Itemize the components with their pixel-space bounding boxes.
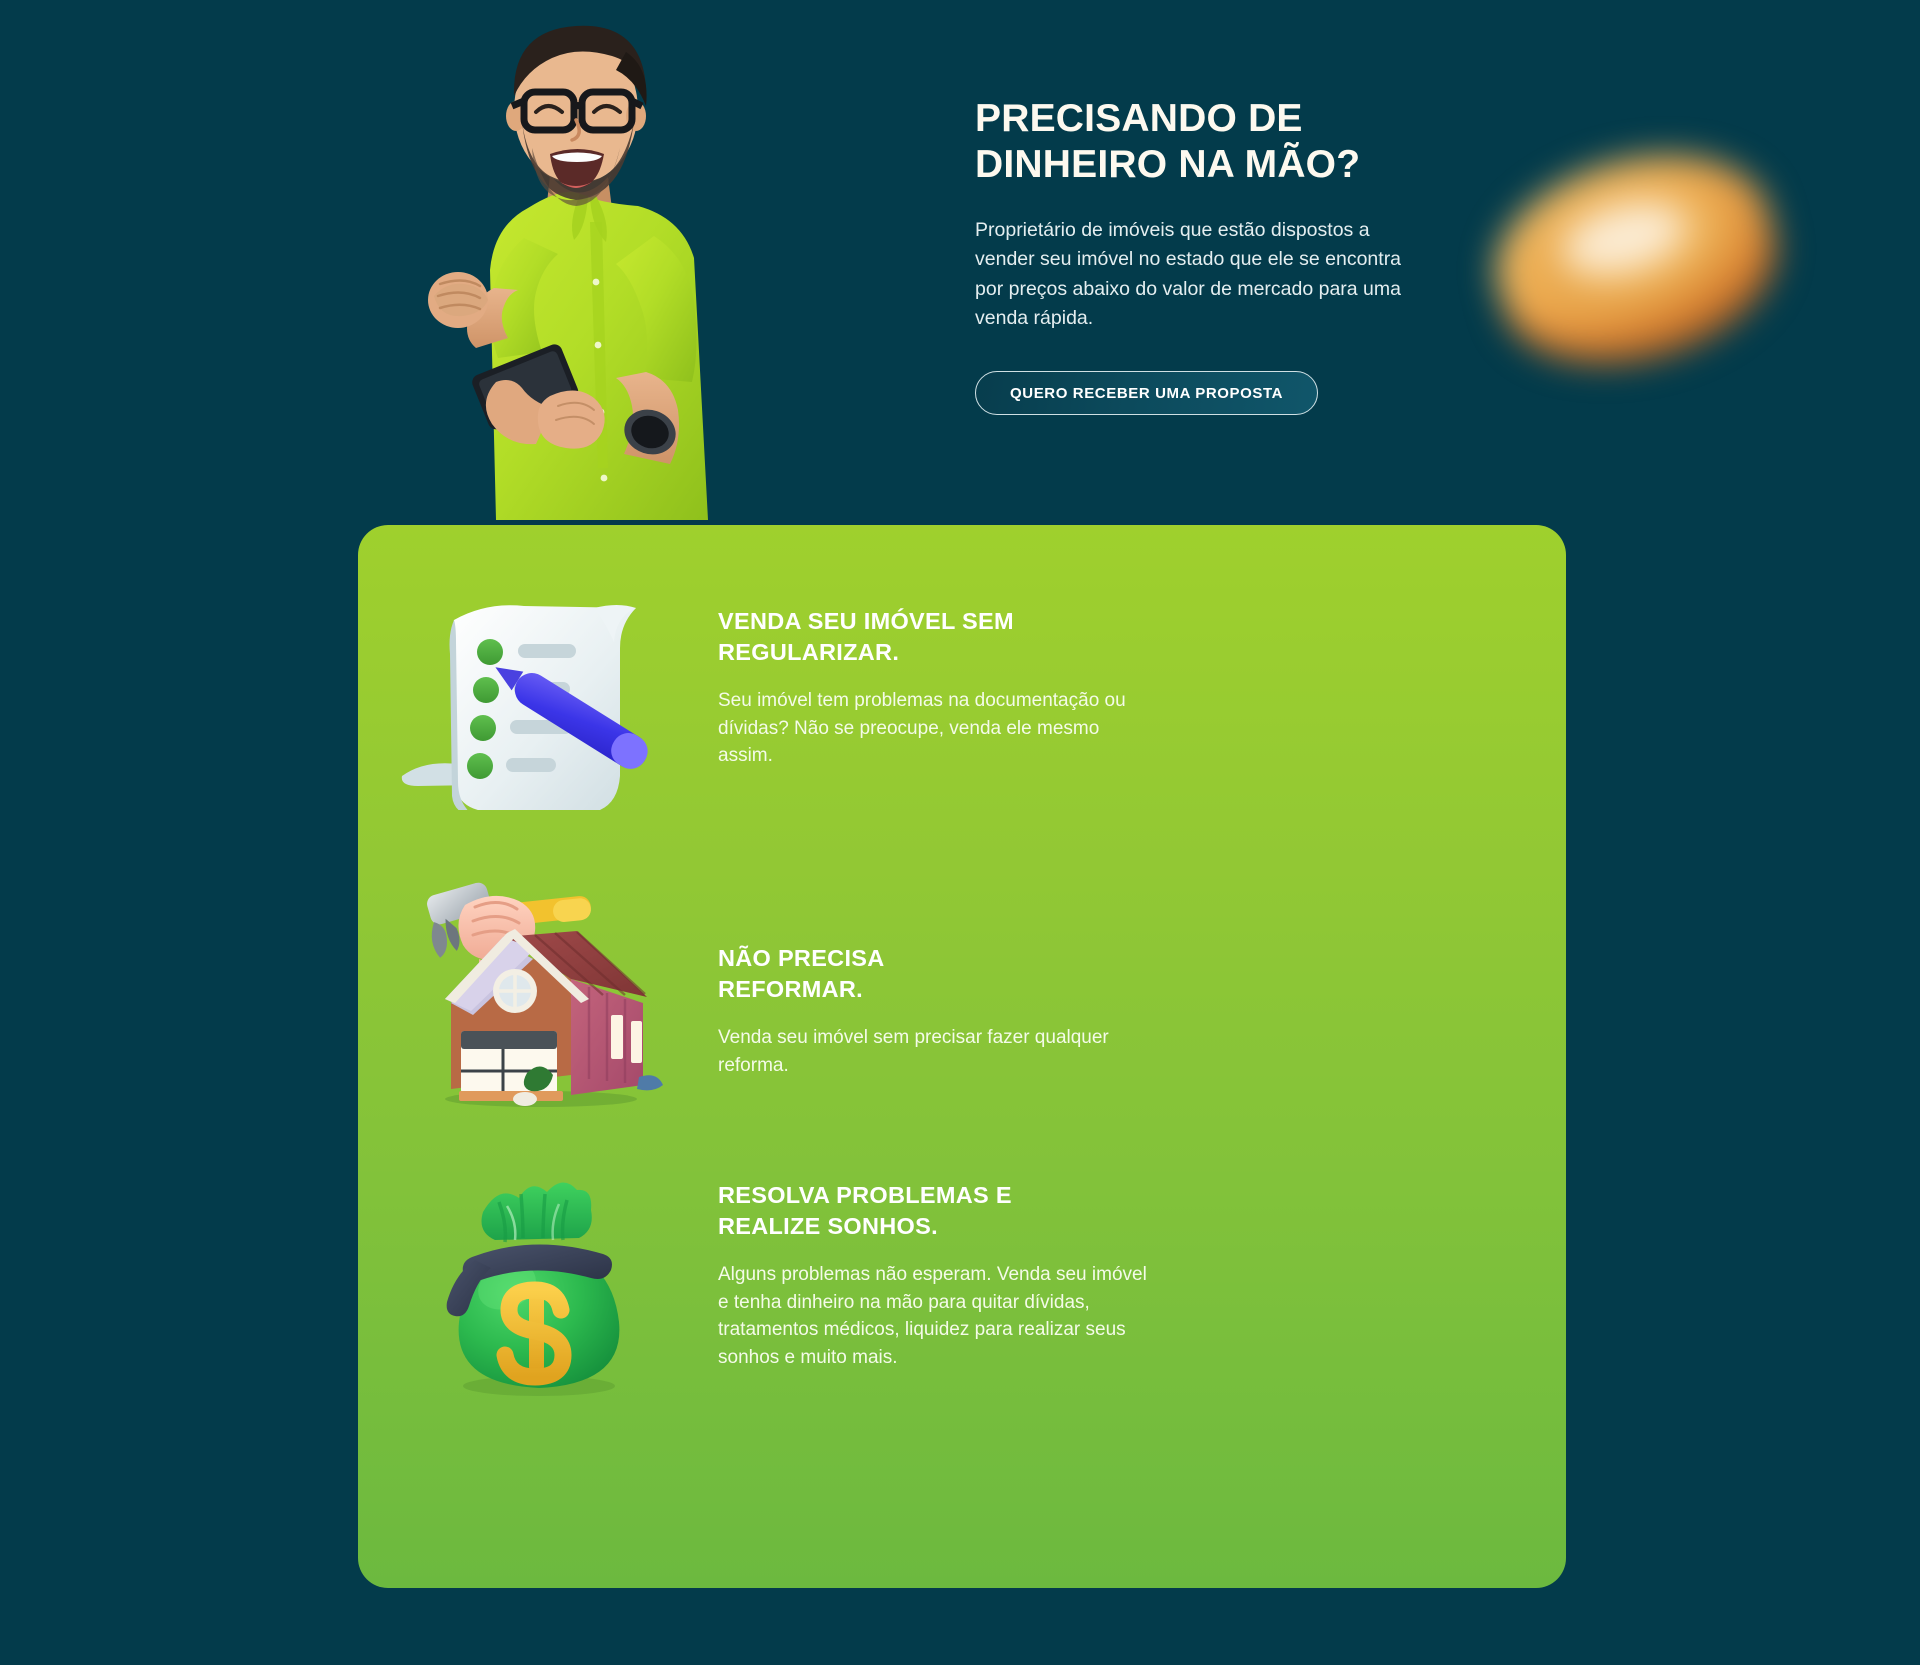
scroll-checklist-pen-icon xyxy=(358,580,718,810)
request-proposal-button[interactable]: QUERO RECEBER UMA PROPOSTA xyxy=(975,371,1318,415)
benefit-description: Alguns problemas não esperam. Venda seu … xyxy=(718,1261,1148,1371)
page-title: PRECISANDO DE DINHEIRO NA MÃO? xyxy=(975,96,1445,188)
benefit-text: RESOLVA PROBLEMAS E REALIZE SONHOS. Algu… xyxy=(718,1090,1148,1371)
benefits-card: VENDA SEU IMÓVEL SEM REGULARIZAR. Seu im… xyxy=(358,525,1566,1588)
gold-coin-icon xyxy=(1450,95,1820,395)
benefit-description: Venda seu imóvel sem precisar fazer qual… xyxy=(718,1024,1148,1079)
house-hammer-icon xyxy=(358,835,718,1113)
hero-subtitle: Proprietário de imóveis que estão dispos… xyxy=(975,216,1405,333)
benefit-item: NÃO PRECISA REFORMAR. Venda seu imóvel s… xyxy=(358,835,1566,1113)
hero-person-image xyxy=(400,0,750,520)
benefit-text: NÃO PRECISA REFORMAR. Venda seu imóvel s… xyxy=(718,835,1148,1079)
benefit-item: VENDA SEU IMÓVEL SEM REGULARIZAR. Seu im… xyxy=(358,580,1566,810)
hero-copy: PRECISANDO DE DINHEIRO NA MÃO? Proprietá… xyxy=(975,96,1445,415)
benefit-title: RESOLVA PROBLEMAS E REALIZE SONHOS. xyxy=(718,1180,1148,1241)
benefit-title: VENDA SEU IMÓVEL SEM REGULARIZAR. xyxy=(718,606,1148,667)
landing-page: PRECISANDO DE DINHEIRO NA MÃO? Proprietá… xyxy=(0,0,1920,1665)
money-bag-icon xyxy=(358,1090,718,1400)
benefit-item: RESOLVA PROBLEMAS E REALIZE SONHOS. Algu… xyxy=(358,1090,1566,1400)
benefit-text: VENDA SEU IMÓVEL SEM REGULARIZAR. Seu im… xyxy=(718,580,1148,770)
benefit-description: Seu imóvel tem problemas na documentação… xyxy=(718,687,1148,770)
hero-section: PRECISANDO DE DINHEIRO NA MÃO? Proprietá… xyxy=(0,0,1920,530)
benefit-title: NÃO PRECISA REFORMAR. xyxy=(718,943,1148,1004)
